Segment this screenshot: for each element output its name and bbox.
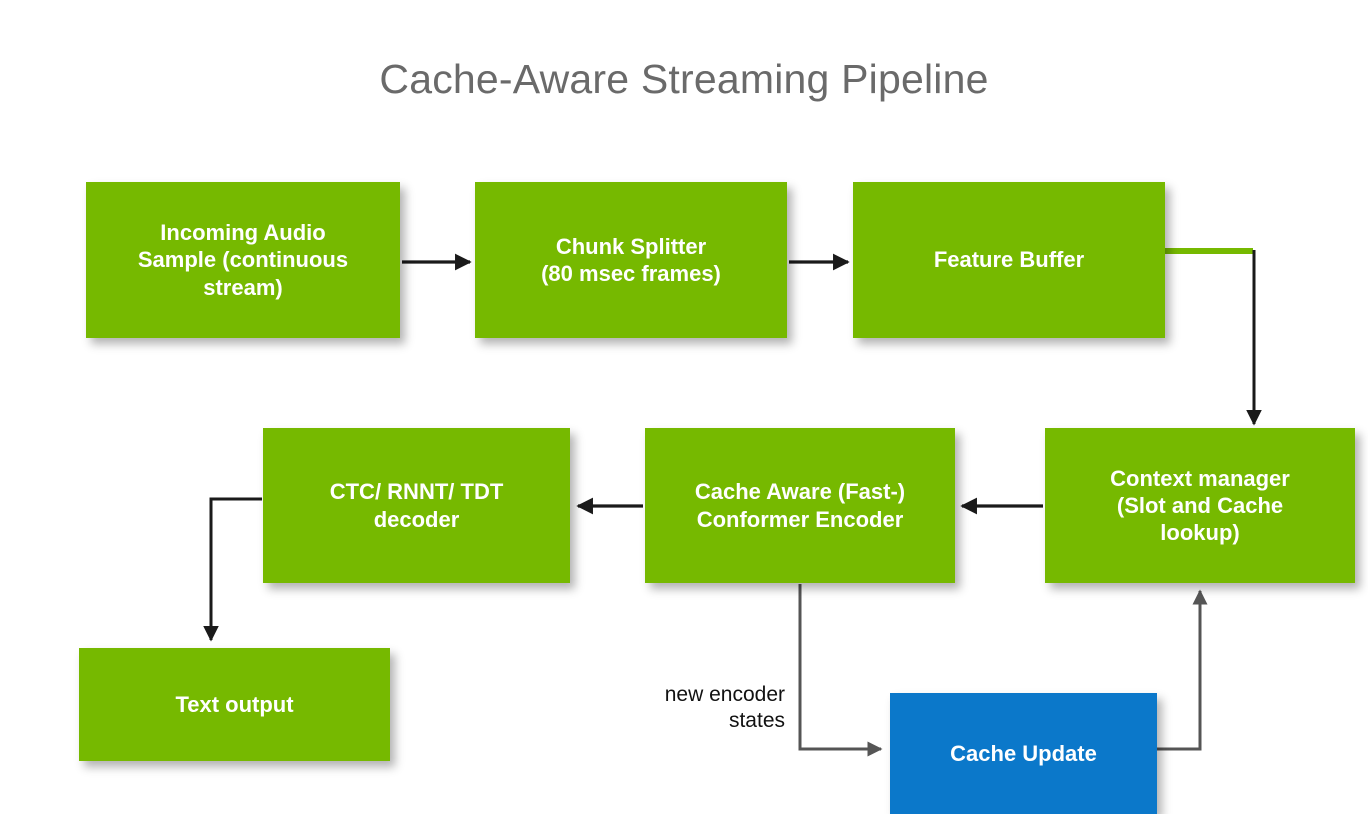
- edge-label-new-encoder-states: new encoder states: [560, 682, 785, 735]
- edge-encoder-to-cache-update: [800, 584, 881, 749]
- node-cache-aware-conformer-encoder[interactable]: Cache Aware (Fast-) Conformer Encoder: [645, 428, 955, 583]
- edge-decoder-to-text-output: [211, 499, 262, 640]
- node-feature-buffer-label: Feature Buffer: [934, 246, 1084, 273]
- diagram-canvas: Cache-Aware Streaming Pipeline: [0, 0, 1368, 814]
- node-cache-update-label: Cache Update: [950, 740, 1097, 767]
- node-context-manager[interactable]: Context manager (Slot and Cache lookup): [1045, 428, 1355, 583]
- node-text-output[interactable]: Text output: [79, 648, 390, 761]
- node-context-manager-label: Context manager (Slot and Cache lookup): [1110, 465, 1290, 546]
- node-decoder-label: CTC/ RNNT/ TDT decoder: [330, 478, 504, 532]
- node-feature-buffer[interactable]: Feature Buffer: [853, 182, 1165, 338]
- node-incoming-audio[interactable]: Incoming Audio Sample (continuous stream…: [86, 182, 400, 338]
- node-chunk-splitter[interactable]: Chunk Splitter (80 msec frames): [475, 182, 787, 338]
- node-incoming-audio-label: Incoming Audio Sample (continuous stream…: [138, 219, 348, 300]
- node-text-output-label: Text output: [175, 691, 293, 718]
- node-ctc-rnnt-tdt-decoder[interactable]: CTC/ RNNT/ TDT decoder: [263, 428, 570, 583]
- node-cache-update[interactable]: Cache Update: [890, 693, 1157, 814]
- edge-cache-update-to-context: [1157, 591, 1200, 749]
- node-encoder-label: Cache Aware (Fast-) Conformer Encoder: [695, 478, 905, 532]
- page-title: Cache-Aware Streaming Pipeline: [0, 56, 1368, 103]
- node-chunk-splitter-label: Chunk Splitter (80 msec frames): [541, 233, 721, 287]
